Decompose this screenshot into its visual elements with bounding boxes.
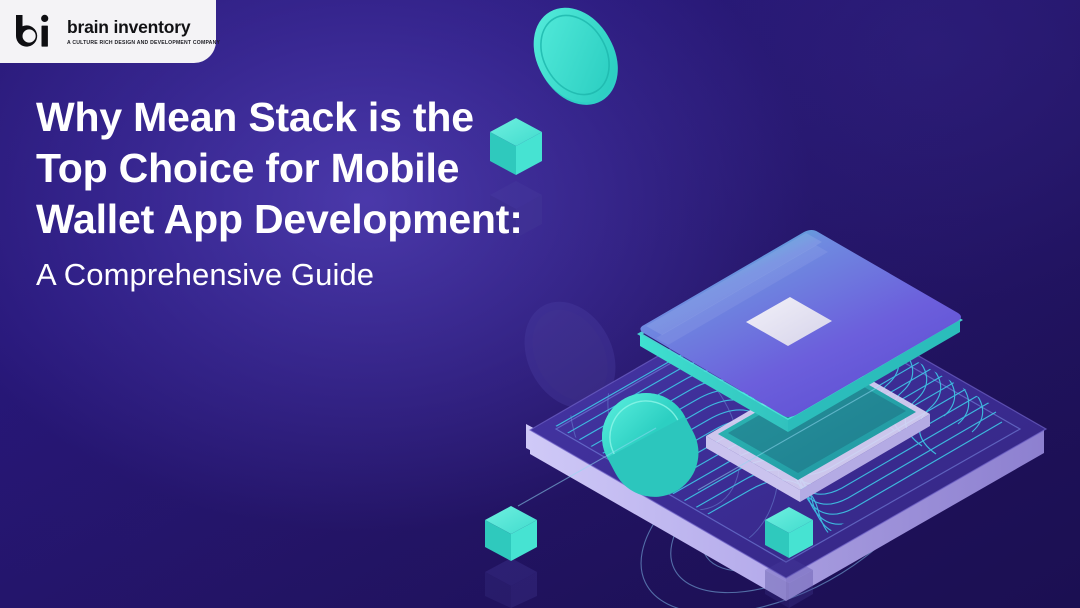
brand-name: brain inventory (67, 19, 220, 37)
hero-banner: brain inventory A CULTURE RICH DESIGN AN… (0, 0, 1080, 608)
cube-bottom-left-shadow (485, 558, 537, 608)
brand-tagline: A CULTURE RICH DESIGN AND DEVELOPMENT CO… (67, 41, 220, 46)
hero-title-line-3: Wallet App Development: (36, 194, 596, 245)
brand-text-block: brain inventory A CULTURE RICH DESIGN AN… (67, 17, 220, 46)
hero-subtitle: A Comprehensive Guide (36, 253, 596, 297)
cube-bottom-left (485, 506, 537, 608)
hero-title-line-2: Top Choice for Mobile (36, 143, 596, 194)
bi-monogram-icon (12, 12, 60, 52)
hero-title-line-1: Why Mean Stack is the (36, 92, 596, 143)
brand-logo-badge[interactable]: brain inventory A CULTURE RICH DESIGN AN… (0, 0, 216, 63)
hero-heading-block: Why Mean Stack is the Top Choice for Mob… (36, 92, 596, 297)
